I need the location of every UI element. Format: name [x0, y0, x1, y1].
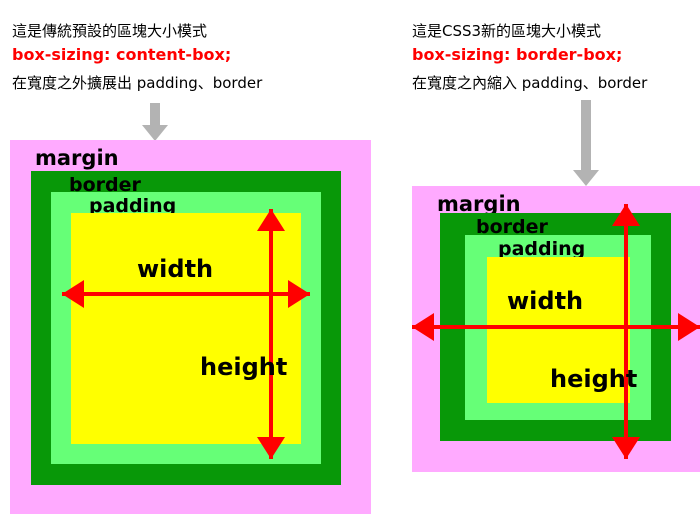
border-box-width-label: width: [507, 289, 583, 313]
content-box-width-label: width: [137, 257, 213, 281]
border-box-width-arrow: [412, 313, 700, 341]
border-box-margin-layer: margin border padding width height: [412, 186, 700, 472]
content-box-caption-code: box-sizing: content-box;: [12, 45, 231, 64]
border-box-caption-line3: 在寬度之內縮入 padding、border: [412, 72, 647, 93]
content-box-caption-line1: 這是傳統預設的區塊大小模式: [12, 20, 207, 41]
content-box-margin-label: margin: [35, 148, 119, 169]
content-box-height-label: height: [200, 355, 287, 379]
border-box-caption-line1: 這是CSS3新的區塊大小模式: [412, 20, 601, 41]
border-box-caption-code: box-sizing: border-box;: [412, 45, 622, 64]
content-box-height-arrow: [257, 209, 285, 459]
border-box-panel: 這是CSS3新的區塊大小模式 box-sizing: border-box; 在…: [400, 0, 700, 514]
content-box-caption-line3: 在寬度之外擴展出 padding、border: [12, 72, 262, 93]
border-box-margin-label: margin: [437, 194, 521, 215]
grey-down-arrow: [142, 103, 168, 141]
grey-down-arrow: [573, 100, 599, 186]
content-box-panel: 這是傳統預設的區塊大小模式 box-sizing: content-box; 在…: [0, 0, 400, 514]
border-box-height-label: height: [550, 367, 637, 391]
border-box-height-arrow: [612, 204, 640, 459]
content-box-margin-layer: margin border padding width height: [10, 140, 371, 514]
content-box-border-layer: border padding: [31, 171, 341, 485]
